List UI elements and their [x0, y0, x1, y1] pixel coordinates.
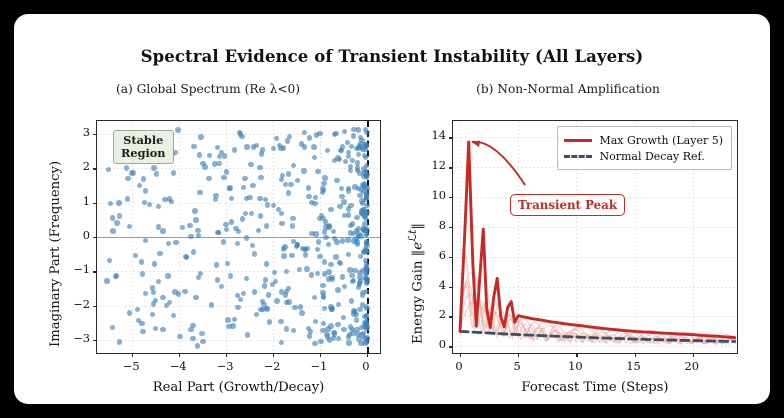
eigenvalue-point [252, 289, 257, 294]
eigenvalue-point [151, 165, 156, 170]
eigenvalue-point [303, 252, 308, 257]
eigenvalue-point [323, 224, 328, 229]
panel-b-y-tick-label: 0 [412, 337, 446, 351]
eigenvalue-point [219, 284, 224, 289]
eigenvalue-point [342, 284, 347, 289]
eigenvalue-point [312, 341, 317, 346]
eigenvalue-point [125, 196, 130, 201]
panel-a-y-tick-label: 3 [56, 125, 90, 139]
eigenvalue-point [351, 133, 356, 138]
panel-a-y-tick-label: −1 [56, 262, 90, 276]
eigenvalue-point [110, 228, 115, 233]
eigenvalue-point [333, 131, 338, 136]
eigenvalue-point [306, 194, 311, 199]
eigenvalue-point [334, 178, 339, 183]
eigenvalue-point [321, 321, 326, 326]
x-tick-mark [132, 353, 133, 357]
panel-a-y-tick-label: 2 [56, 159, 90, 173]
eigenvalue-point [187, 223, 192, 228]
eigenvalue-point [333, 254, 338, 259]
eigenvalue-point [141, 176, 146, 181]
panel-a-x-tick-label: 0 [346, 359, 386, 373]
eigenvalue-point [107, 258, 112, 263]
eigenvalue-point [230, 323, 235, 328]
panel-a-x-tick-label: −4 [158, 359, 198, 373]
eigenvalue-point [117, 339, 122, 344]
figure-title: Spectral Evidence of Transient Instabili… [14, 47, 770, 66]
eigenvalue-point [342, 129, 347, 134]
eigenvalue-point [212, 161, 217, 166]
eigenvalue-point [347, 267, 352, 272]
eigenvalue-point [311, 144, 316, 149]
panel-a-x-tick-label: −3 [205, 359, 245, 373]
eigenvalue-point [127, 310, 132, 315]
eigenvalue-point [322, 229, 327, 234]
eigenvalue-point [356, 336, 361, 341]
eigenvalue-point [235, 241, 240, 246]
eigenvalue-point [279, 211, 284, 216]
transient-peak-arrow [472, 142, 525, 185]
eigenvalue-point [153, 326, 158, 331]
eigenvalue-point [364, 192, 369, 197]
eigenvalue-point [188, 234, 193, 239]
panel-b-y-tick-label: 8 [412, 218, 446, 232]
eigenvalue-point [165, 273, 170, 278]
eigenvalue-point [139, 259, 144, 264]
eigenvalue-point [363, 248, 368, 253]
eigenvalue-point [354, 239, 359, 244]
eigenvalue-point [357, 282, 362, 287]
panel-a-subtitle: (a) Global Spectrum (Re λ<0) [58, 82, 358, 96]
y-tick-mark [449, 197, 453, 198]
eigenvalue-point [317, 131, 322, 136]
y-tick-mark [93, 203, 97, 204]
panel-b-x-tick-label: 5 [497, 359, 537, 373]
eigenvalue-point [271, 203, 276, 208]
eigenvalue-point [153, 298, 158, 303]
eigenvalue-point [193, 217, 198, 222]
x-tick-mark [367, 353, 368, 357]
y-tick-mark [93, 168, 97, 169]
legend-label-normal-decay: Normal Decay Ref. [599, 150, 704, 163]
eigenvalue-point [263, 197, 268, 202]
eigenvalue-point [341, 199, 346, 204]
x-tick-mark [635, 353, 636, 357]
eigenvalue-point [359, 210, 364, 215]
eigenvalue-point [271, 146, 276, 151]
eigenvalue-point [302, 144, 307, 149]
eigenvalue-point [160, 295, 165, 300]
eigenvalue-point [143, 291, 148, 296]
eigenvalue-point [290, 216, 295, 221]
eigenvalue-point [355, 168, 360, 173]
eigenvalue-point [313, 319, 318, 324]
eigenvalue-point [116, 200, 121, 205]
eigenvalue-point [193, 295, 198, 300]
eigenvalue-point [328, 262, 333, 267]
eigenvalue-point [197, 190, 202, 195]
eigenvalue-point [361, 166, 366, 171]
eigenvalue-point [229, 219, 234, 224]
eigenvalue-point [331, 229, 336, 234]
eigenvalue-point [341, 315, 346, 320]
panel-b-x-tick-label: 10 [555, 359, 595, 373]
legend-swatch-solid-line-icon [564, 139, 592, 142]
eigenvalue-point [306, 185, 311, 190]
eigenvalue-point [140, 329, 145, 334]
panel-a-global-spectrum: Stable Region [96, 120, 381, 354]
eigenvalue-point [156, 224, 161, 229]
eigenvalue-point [274, 298, 279, 303]
eigenvalue-point [264, 261, 269, 266]
eigenvalue-point [206, 176, 211, 181]
eigenvalue-point [166, 241, 171, 246]
eigenvalue-point [232, 317, 237, 322]
eigenvalue-point [137, 183, 142, 188]
eigenvalue-point [250, 183, 255, 188]
x-tick-mark [226, 353, 227, 357]
eigenvalue-point [224, 227, 229, 232]
eigenvalue-point [124, 165, 129, 170]
eigenvalue-point [362, 320, 367, 325]
eigenvalue-point [343, 159, 348, 164]
panel-b-x-tick-label: 20 [672, 359, 712, 373]
panel-a-y-tick-label: 1 [56, 194, 90, 208]
max-growth-curve [460, 142, 735, 338]
eigenvalue-point [258, 175, 263, 180]
zero-frequency-line [97, 237, 380, 238]
x-tick-mark [518, 353, 519, 357]
panel-b-y-tick-label: 4 [412, 278, 446, 292]
eigenvalue-point [332, 331, 337, 336]
eigenvalue-point [173, 240, 178, 245]
eigenvalue-point [364, 239, 369, 244]
eigenvalue-point [233, 226, 238, 231]
panel-a-y-tick-label: −3 [56, 331, 90, 345]
eigenvalue-point [348, 223, 353, 228]
eigenvalue-point [216, 161, 221, 166]
eigenvalue-point [108, 201, 113, 206]
eigenvalue-point [196, 275, 201, 280]
y-tick-mark [93, 340, 97, 341]
eigenvalue-point [289, 253, 294, 258]
eigenvalue-point [259, 151, 264, 156]
eigenvalue-point [106, 167, 111, 172]
eigenvalue-point [157, 251, 162, 256]
eigenvalue-point [286, 171, 291, 176]
eigenvalue-point [171, 313, 176, 318]
eigenvalue-point [256, 228, 261, 233]
eigenvalue-point [180, 225, 185, 230]
eigenvalue-point [154, 171, 159, 176]
eigenvalue-point [295, 178, 300, 183]
eigenvalue-point [232, 147, 237, 152]
eigenvalue-point [309, 200, 314, 205]
eigenvalue-point [286, 299, 291, 304]
eigenvalue-point [354, 317, 359, 322]
eigenvalue-point [192, 208, 197, 213]
eigenvalue-point [207, 153, 212, 158]
eigenvalue-point [356, 127, 361, 132]
y-tick-mark [449, 316, 453, 317]
eigenvalue-point [284, 289, 289, 294]
eigenvalue-point [281, 253, 286, 258]
stable-region-annotation: Stable Region [113, 130, 174, 164]
eigenvalue-point [279, 340, 284, 345]
eigenvalue-point [227, 186, 232, 191]
eigenvalue-point [345, 237, 350, 242]
eigenvalue-point [291, 328, 296, 333]
eigenvalue-point [248, 162, 253, 167]
legend-label-max-growth: Max Growth (Layer 5) [599, 134, 723, 147]
eigenvalue-point [244, 144, 249, 149]
eigenvalue-point [284, 326, 289, 331]
eigenvalue-point [177, 334, 182, 339]
eigenvalue-point [249, 211, 254, 216]
y-tick-mark [93, 134, 97, 135]
eigenvalue-point [346, 340, 351, 345]
eigenvalue-point [323, 235, 328, 240]
panel-a-x-tick-label: −1 [299, 359, 339, 373]
eigenvalue-point [274, 136, 279, 141]
eigenvalue-point [214, 262, 219, 267]
eigenvalue-point [312, 295, 317, 300]
eigenvalue-point [197, 152, 202, 157]
eigenvalue-point [328, 207, 333, 212]
eigenvalue-point [243, 211, 248, 216]
eigenvalue-point [279, 221, 284, 226]
panel-a-x-tick-label: −2 [252, 359, 292, 373]
eigenvalue-point [307, 333, 312, 338]
eigenvalue-point [325, 148, 330, 153]
eigenvalue-point [191, 144, 196, 149]
x-tick-mark [576, 353, 577, 357]
eigenvalue-point [150, 312, 155, 317]
eigenvalue-point [324, 332, 329, 337]
eigenvalue-point [142, 200, 147, 205]
eigenvalue-point [209, 302, 214, 307]
eigenvalue-point [143, 188, 148, 193]
eigenvalue-point [182, 289, 187, 294]
eigenvalue-point [247, 195, 252, 200]
eigenvalue-point [129, 170, 134, 175]
panel-b-nonnormal-amplification: Max Growth (Layer 5) Normal Decay Ref. T… [452, 120, 738, 354]
eigenvalue-point [191, 249, 196, 254]
eigenvalue-point [263, 277, 268, 282]
eigenvalue-point [282, 244, 287, 249]
eigenvalue-point [240, 216, 245, 221]
eigenvalue-point [284, 269, 289, 274]
eigenvalue-point [156, 204, 161, 209]
eigenvalue-point [196, 233, 201, 238]
eigenvalue-point [244, 276, 249, 281]
eigenvalue-point [160, 327, 165, 332]
legend-item-normal-decay: Normal Decay Ref. [564, 148, 723, 164]
eigenvalue-point [329, 277, 334, 282]
eigenvalue-point [346, 212, 351, 217]
eigenvalue-point [244, 235, 249, 240]
eigenvalue-point [270, 282, 275, 287]
eigenvalue-point [302, 247, 307, 252]
eigenvalue-point [245, 332, 250, 337]
eigenvalue-point [172, 289, 177, 294]
legend-item-max-growth: Max Growth (Layer 5) [564, 132, 723, 148]
gridline-horizontal [97, 168, 380, 169]
eigenvalue-point [354, 215, 359, 220]
eigenvalue-point [288, 182, 293, 187]
eigenvalue-point [356, 152, 361, 157]
panel-b-y-tick-label: 14 [412, 128, 446, 142]
panel-a-y-tick-label: −2 [56, 297, 90, 311]
eigenvalue-point [160, 228, 165, 233]
eigenvalue-point [228, 273, 233, 278]
eigenvalue-point [322, 306, 327, 311]
eigenvalue-point [329, 306, 334, 311]
eigenvalue-point [334, 239, 339, 244]
eigenvalue-point [264, 223, 269, 228]
x-tick-mark [273, 353, 274, 357]
eigenvalue-point [265, 202, 270, 207]
eigenvalue-point [224, 169, 229, 174]
eigenvalue-point [281, 145, 286, 150]
eigenvalue-point [241, 291, 246, 296]
eigenvalue-point [322, 175, 327, 180]
panel-b-y-tick-label: 12 [412, 158, 446, 172]
eigenvalue-point [341, 327, 346, 332]
eigenvalue-point [337, 157, 342, 162]
panel-a-y-tick-label: 0 [56, 228, 90, 242]
panel-a-y-axis-label: Imaginary Part (Frequency) [48, 161, 63, 347]
eigenvalue-point [135, 307, 140, 312]
eigenvalue-point [317, 254, 322, 259]
eigenvalue-point [349, 298, 354, 303]
y-tick-mark [449, 257, 453, 258]
eigenvalue-point [352, 184, 357, 189]
eigenvalue-point [320, 190, 325, 195]
eigenvalue-point [125, 176, 130, 181]
panel-a-x-axis-label: Real Part (Growth/Decay) [96, 380, 381, 395]
eigenvalue-point [221, 239, 226, 244]
eigenvalue-point [133, 253, 138, 258]
eigenvalue-point [183, 254, 188, 259]
eigenvalue-point [312, 155, 317, 160]
eigenvalue-point [320, 283, 325, 288]
eigenvalue-point [285, 138, 290, 143]
eigenvalue-point [229, 196, 234, 201]
eigenvalue-point [195, 343, 200, 348]
y-tick-mark [449, 287, 453, 288]
eigenvalue-point [162, 197, 167, 202]
eigenvalue-point [252, 251, 257, 256]
eigenvalue-point [235, 305, 240, 310]
panel-b-y-tick-label: 10 [412, 188, 446, 202]
eigenvalue-point [222, 153, 227, 158]
eigenvalue-point [225, 317, 230, 322]
y-tick-mark [93, 306, 97, 307]
eigenvalue-point [262, 283, 267, 288]
eigenvalue-point [215, 230, 220, 235]
eigenvalue-point [357, 270, 362, 275]
eigenvalue-point [241, 185, 246, 190]
eigenvalue-point [301, 168, 306, 173]
eigenvalue-point [348, 230, 353, 235]
panel-a-x-tick-label: −5 [111, 359, 151, 373]
eigenvalue-point [298, 304, 303, 309]
x-tick-mark [320, 353, 321, 357]
eigenvalue-point [147, 202, 152, 207]
eigenvalue-point [110, 215, 115, 220]
eigenvalue-point [117, 213, 122, 218]
eigenvalue-point [286, 190, 291, 195]
eigenvalue-point [167, 300, 172, 305]
eigenvalue-point [139, 321, 144, 326]
eigenvalue-point [292, 305, 297, 310]
transient-peak-annotation: Transient Peak [510, 194, 625, 216]
eigenvalue-point [348, 203, 353, 208]
eigenvalue-point [326, 242, 331, 247]
eigenvalue-point [140, 271, 145, 276]
eigenvalue-point [335, 287, 340, 292]
eigenvalue-point [307, 135, 312, 140]
eigenvalue-point [309, 231, 314, 236]
eigenvalue-point [110, 325, 115, 330]
panel-b-y-tick-label: 6 [412, 248, 446, 262]
eigenvalue-point [321, 295, 326, 300]
eigenvalue-point [325, 326, 330, 331]
x-tick-mark [693, 353, 694, 357]
stable-region-line2: Region [121, 146, 166, 160]
panel-b-x-tick-label: 15 [614, 359, 654, 373]
eigenvalue-point [257, 196, 262, 201]
figure-canvas: Spectral Evidence of Transient Instabili… [14, 14, 770, 404]
eigenvalue-point [299, 310, 304, 315]
eigenvalue-point [322, 259, 327, 264]
eigenvalue-point [225, 261, 230, 266]
panel-b-y-tick-label: 2 [412, 307, 446, 321]
eigenvalue-point [304, 266, 309, 271]
eigenvalue-point [364, 130, 369, 135]
eigenvalue-point [175, 127, 180, 132]
eigenvalue-point [339, 194, 344, 199]
eigenvalue-point [202, 164, 207, 169]
eigenvalue-point [254, 312, 259, 317]
eigenvalue-point [338, 261, 343, 266]
y-tick-mark [93, 271, 97, 272]
panel-b-legend: Max Growth (Layer 5) Normal Decay Ref. [557, 126, 732, 170]
eigenvalue-point [190, 336, 195, 341]
eigenvalue-point [318, 339, 323, 344]
eigenvalue-point [339, 148, 344, 153]
eigenvalue-point [238, 297, 243, 302]
y-tick-mark [449, 167, 453, 168]
x-tick-mark [460, 353, 461, 357]
eigenvalue-point [309, 272, 314, 277]
eigenvalue-point [114, 220, 119, 225]
eigenvalue-point [355, 160, 360, 165]
eigenvalue-point [200, 339, 205, 344]
panel-b-subtitle: (b) Non-Normal Amplification [418, 82, 718, 96]
eigenvalue-point [339, 186, 344, 191]
eigenvalue-point [198, 134, 203, 139]
eigenvalue-point [221, 175, 226, 180]
eigenvalue-point [152, 261, 157, 266]
eigenvalue-point [350, 330, 355, 335]
eigenvalue-point [313, 195, 318, 200]
y-tick-mark [449, 227, 453, 228]
y-tick-mark [93, 237, 97, 238]
y-tick-mark [449, 346, 453, 347]
eigenvalue-point [315, 169, 320, 174]
